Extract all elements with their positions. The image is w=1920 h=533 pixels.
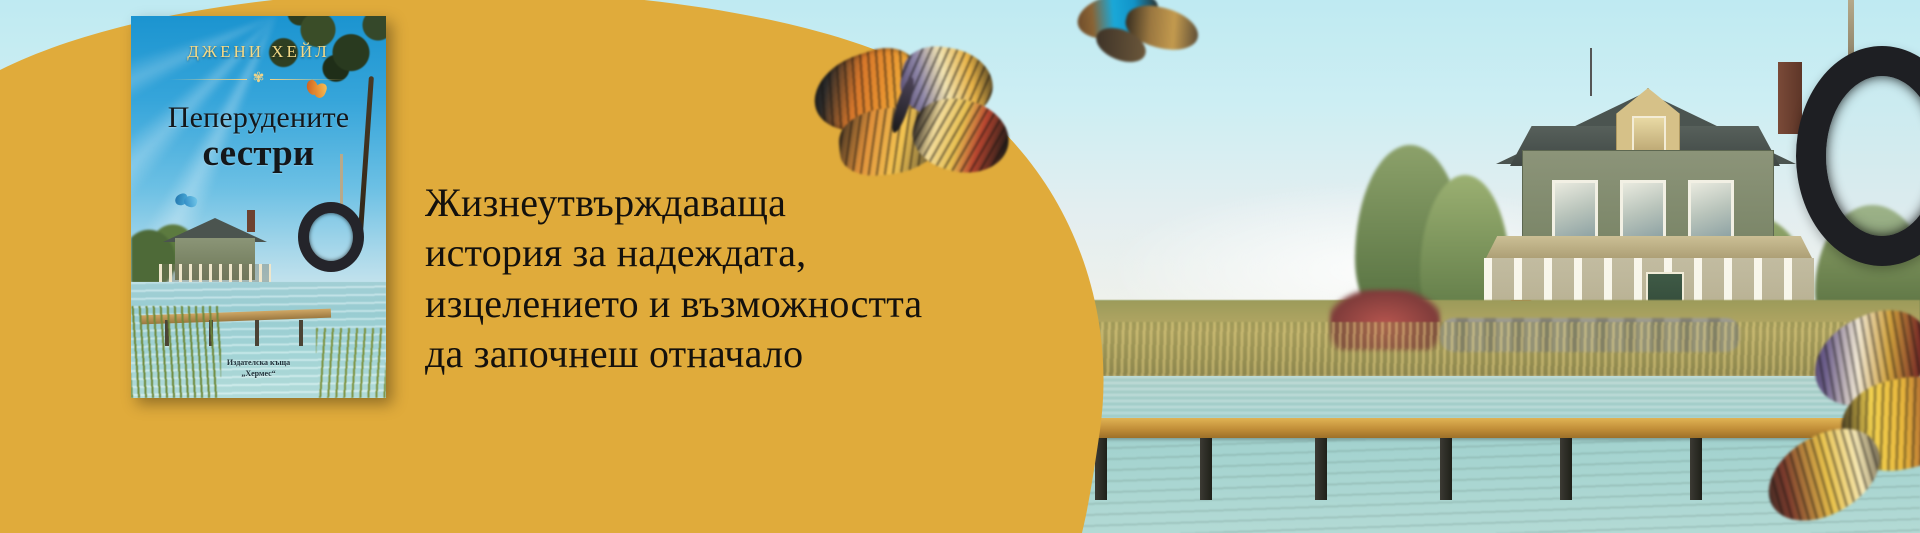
cover-swing-rope xyxy=(340,154,343,206)
cover-reeds xyxy=(131,306,221,398)
dock-piling xyxy=(1200,438,1212,500)
dock-piling xyxy=(1560,438,1572,500)
cover-author-name: ДЖЕНИ ХЕЙЛ xyxy=(131,42,386,62)
house-window xyxy=(1552,180,1598,242)
dock-piling xyxy=(1440,438,1452,500)
dock-piling xyxy=(1315,438,1327,500)
cover-house-porch xyxy=(159,264,271,282)
dock-piling xyxy=(1690,438,1702,500)
cover-dock-piling xyxy=(255,320,259,346)
tagline: Жизнеутвърждаваща история за надеждата, … xyxy=(425,178,1065,380)
cover-publisher: Издателска къща „Хермес“ xyxy=(131,358,386,380)
house-window xyxy=(1620,180,1666,242)
cover-tire-swing xyxy=(298,202,364,272)
tagline-line-2: история за надеждата, xyxy=(425,228,1065,278)
dormer-window xyxy=(1632,116,1666,154)
dock-deck xyxy=(1040,418,1920,438)
flourish-glyph: ✾ xyxy=(247,72,271,86)
cover-dock-piling xyxy=(299,320,303,346)
tire xyxy=(1796,46,1920,266)
tagline-line-4: да започнеш отначало xyxy=(425,329,1065,379)
cover-title-line-1: Пеперудените xyxy=(168,101,350,134)
cover-publisher-line-2: „Хермес“ xyxy=(131,369,386,380)
cover-title: Пеперудените сестри xyxy=(131,102,386,174)
house-window xyxy=(1688,180,1734,242)
cover-title-line-2: сестри xyxy=(131,135,386,173)
roof-spire xyxy=(1590,48,1592,96)
monarch-butterfly-bottom-right xyxy=(1802,316,1920,516)
book-cover[interactable]: ДЖЕНИ ХЕЙЛ ✾ Пеперудените сестри xyxy=(131,16,386,398)
book-promo-banner: ДЖЕНИ ХЕЙЛ ✾ Пеперудените сестри xyxy=(0,0,1920,533)
blue-butterfly xyxy=(1055,0,1205,70)
monarch-butterfly-large xyxy=(805,48,1005,198)
tire-swing xyxy=(1790,0,1910,234)
tagline-line-3: изцелението и възможността xyxy=(425,279,1065,329)
cover-publisher-line-1: Издателска къща xyxy=(131,358,386,369)
cover-house xyxy=(151,208,281,288)
